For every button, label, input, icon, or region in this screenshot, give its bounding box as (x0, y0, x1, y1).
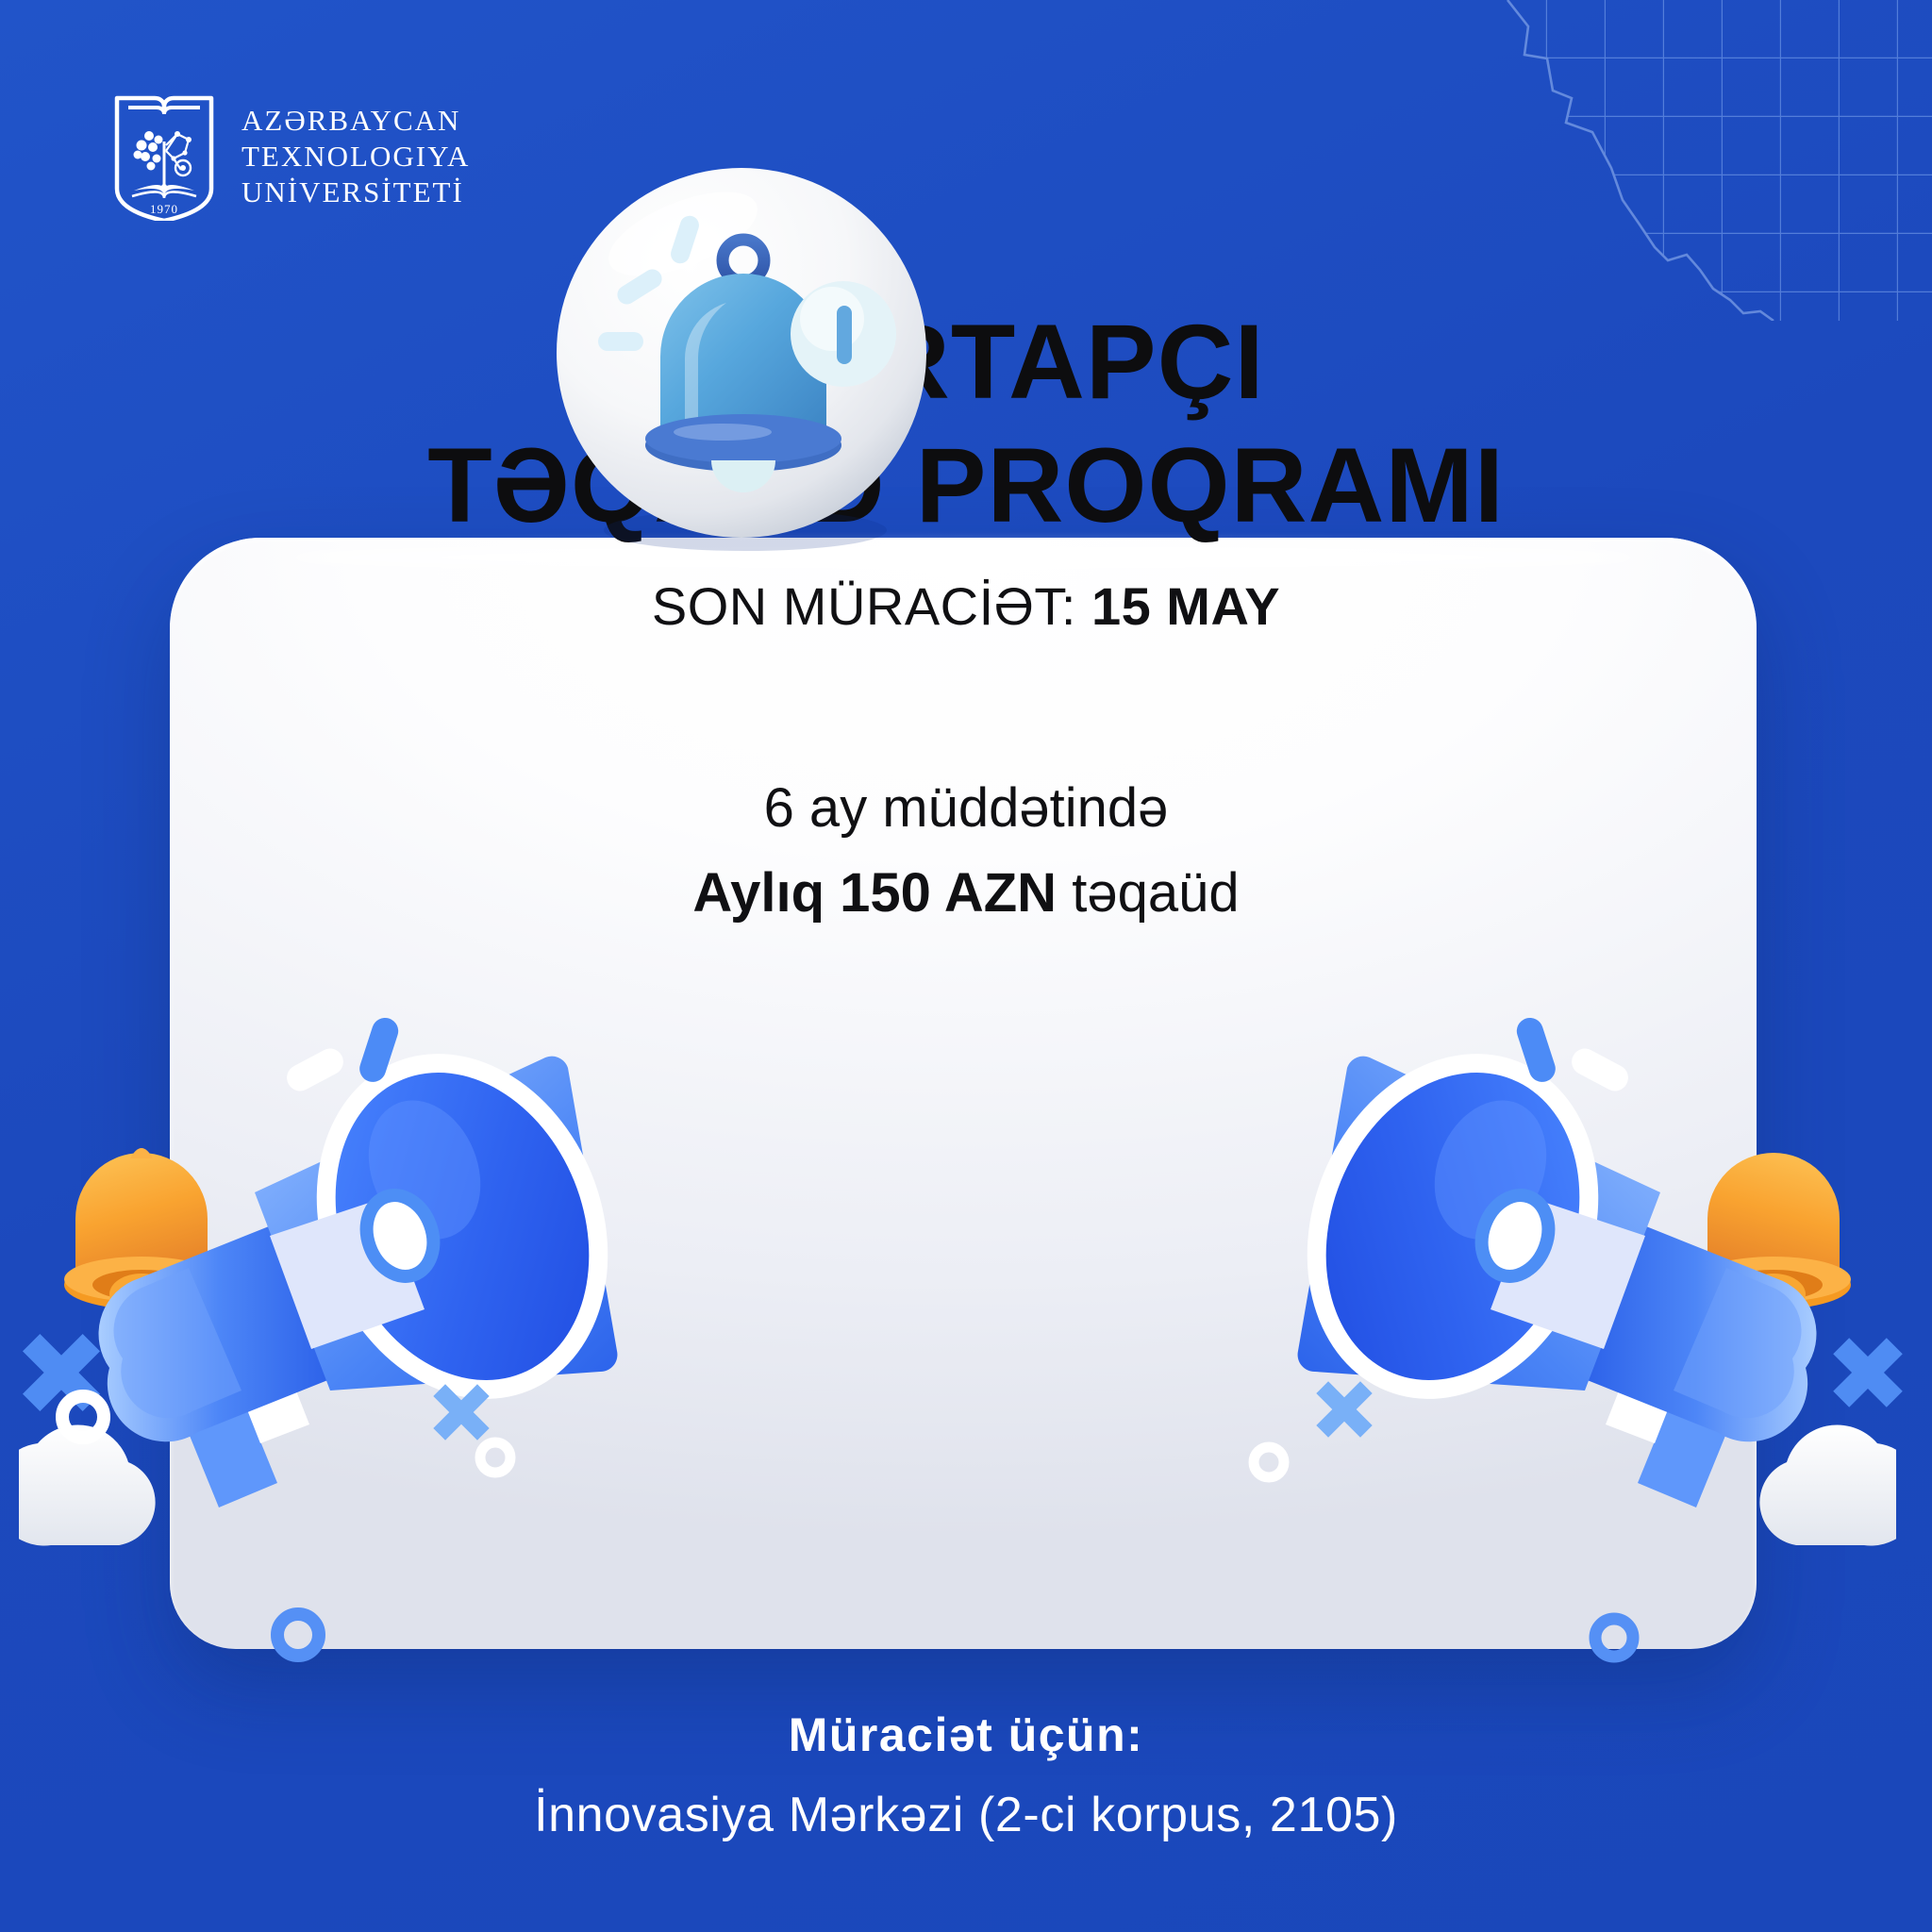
deadline-value: 15 MAY (1091, 576, 1280, 636)
stipend-amount-line: Aylıq 150 AZN təqaüd (0, 851, 1932, 936)
logo-line-3: UNİVERSİTETİ (241, 175, 470, 210)
contact-heading: Müraciət üçün: (0, 1707, 1932, 1762)
deadline-label: SON MÜRACİƏT: (652, 576, 1076, 636)
stipend-block: 6 ay müddətində Aylıq 150 AZN təqaüd (0, 766, 1932, 936)
contact-location: İnnovasiya Mərkəzi (2-ci korpus, 2105) (0, 1787, 1932, 1843)
logo-line-2: TEXNOLOGIYA (241, 139, 470, 175)
university-logo: 1970 AZƏRBAYCAN TEXNOLOGIYA UNİVERSİTETİ (111, 92, 470, 221)
megaphone-icon (1274, 1000, 1896, 1585)
university-logo-text: AZƏRBAYCAN TEXNOLOGIYA UNİVERSİTETİ (241, 103, 470, 209)
open-book-tree-emblem-icon: 1970 (111, 92, 217, 221)
logo-line-1: AZƏRBAYCAN (241, 103, 470, 139)
contact-block: Müraciət üçün: İnnovasiya Mərkəzi (2-ci … (0, 1707, 1932, 1843)
notification-bell-sphere-icon (543, 157, 940, 553)
stipend-suffix: təqaüd (1072, 862, 1239, 924)
stipend-amount: Aylıq 150 AZN (692, 862, 1057, 924)
page-title: STARTAPÇI TƏQAÜD PROQRAMI (0, 300, 1932, 547)
deadline-line: SON MÜRACİƏT: 15 MAY (0, 575, 1932, 637)
logo-year: 1970 (150, 202, 178, 216)
poster-canvas: 1970 AZƏRBAYCAN TEXNOLOGIYA UNİVERSİTETİ… (0, 0, 1932, 1932)
title-line-1: STARTAPÇI (0, 300, 1932, 424)
grid-pattern (1196, 0, 1932, 321)
stipend-duration: 6 ay müddətində (0, 766, 1932, 851)
title-line-2: TƏQAÜD PROQRAMI (0, 424, 1932, 547)
megaphone-icon (19, 1000, 641, 1585)
